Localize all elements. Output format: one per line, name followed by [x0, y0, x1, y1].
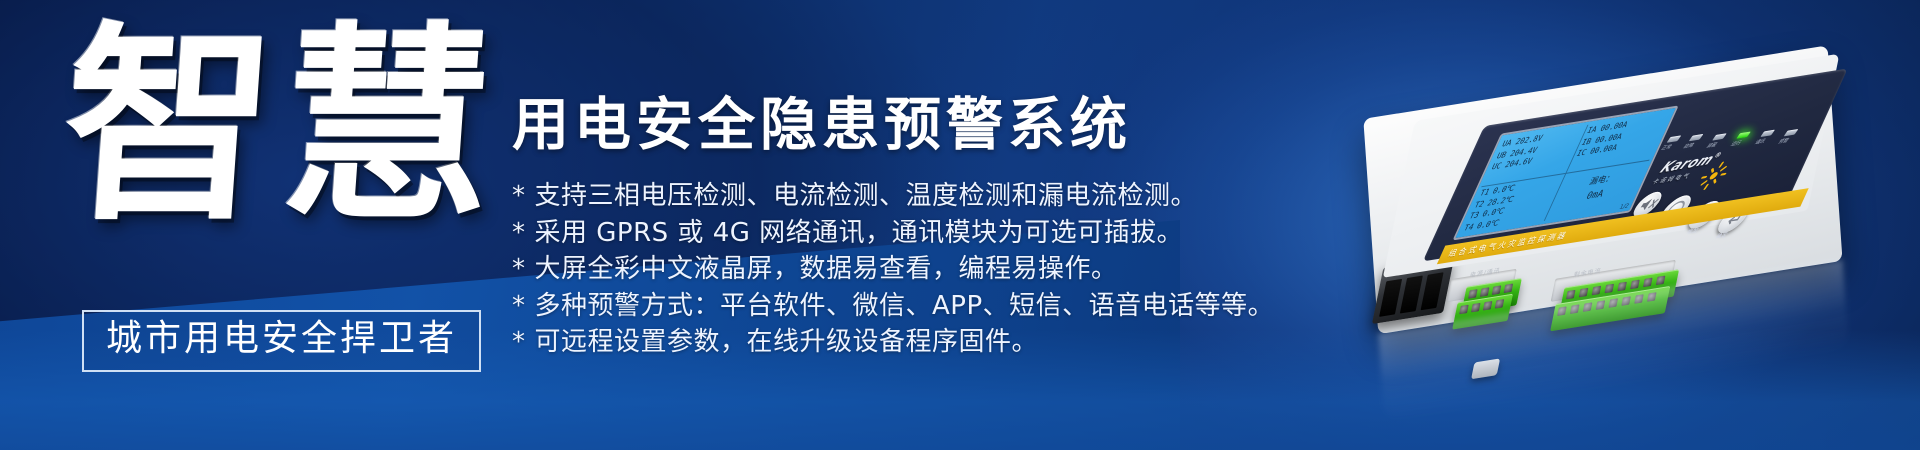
- status-led-label: 运行: [1729, 140, 1743, 148]
- status-led-label: 正常: [1659, 144, 1673, 152]
- lcd-page-indicator: 1/2: [1618, 203, 1630, 211]
- device-top-face: UA 202.8V UB 204.4V UC 204.6V IA 00.00A …: [1383, 54, 1840, 278]
- bullet-marker: *: [512, 181, 526, 211]
- status-led-shield: [1712, 133, 1727, 140]
- bullet-marker: *: [512, 254, 526, 284]
- page-title: 用电安全隐患预警系统: [512, 92, 1132, 158]
- led-indicator-row: 正常 故障 屏蔽 运行 通讯 预警: [1653, 108, 1831, 163]
- list-item: *采用 GPRS 或 4G 网络通讯，通讯模块为可选可插拔。: [512, 215, 1352, 252]
- device-product-image: 1 2 3 电源/通讯 剩余电流: [1320, 0, 1920, 450]
- promo-banner: 智慧 城市用电安全捍卫者 用电安全隐患预警系统 *支持三相电压检测、电流检测、温…: [0, 0, 1920, 450]
- status-led-fault: [1689, 134, 1704, 141]
- list-item-label: 支持三相电压检测、电流检测、温度检测和漏电流检测。: [535, 181, 1198, 211]
- status-led-running: [1736, 131, 1751, 138]
- slogan-box: 城市用电安全捍卫者: [82, 310, 481, 372]
- bullet-marker: *: [512, 291, 526, 321]
- list-item: *可远程设置参数，在线升级设备程序固件。: [512, 324, 1352, 361]
- status-led-normal: [1667, 135, 1682, 142]
- list-item-label: 多种预警方式：平台软件、微信、APP、短信、语音电话等等。: [535, 291, 1275, 321]
- bullet-marker: *: [512, 218, 526, 248]
- list-item: *大屏全彩中文液晶屏，数据易查看，编程易操作。: [512, 251, 1352, 288]
- status-led-alarm: [1784, 129, 1799, 136]
- list-item: *支持三相电压检测、电流检测、温度检测和漏电流检测。: [512, 178, 1352, 215]
- list-item-label: 大屏全彩中文液晶屏，数据易查看，编程易操作。: [535, 254, 1118, 284]
- list-item-label: 采用 GPRS 或 4G 网络通讯，通讯模块为可选可插拔。: [535, 218, 1184, 248]
- status-led-label: 故障: [1681, 142, 1695, 150]
- lcd-temperature-cell: T10.0℃ T228.2℃ T30.0℃ T40.0℃: [1460, 173, 1566, 234]
- list-item: *多种预警方式：平台软件、微信、APP、短信、语音电话等等。: [512, 288, 1352, 325]
- bullet-marker: *: [512, 327, 526, 357]
- calligraphy-title: 智慧: [52, 18, 471, 293]
- status-led-label: 通讯: [1753, 138, 1767, 146]
- status-led-label: 预警: [1776, 137, 1790, 145]
- feature-list: *支持三相电压检测、电流检测、温度检测和漏电流检测。 *采用 GPRS 或 4G…: [512, 178, 1352, 361]
- status-led-label: 屏蔽: [1705, 142, 1719, 150]
- list-item-label: 可远程设置参数，在线升级设备程序固件。: [535, 327, 1039, 357]
- status-led-comm: [1760, 130, 1775, 137]
